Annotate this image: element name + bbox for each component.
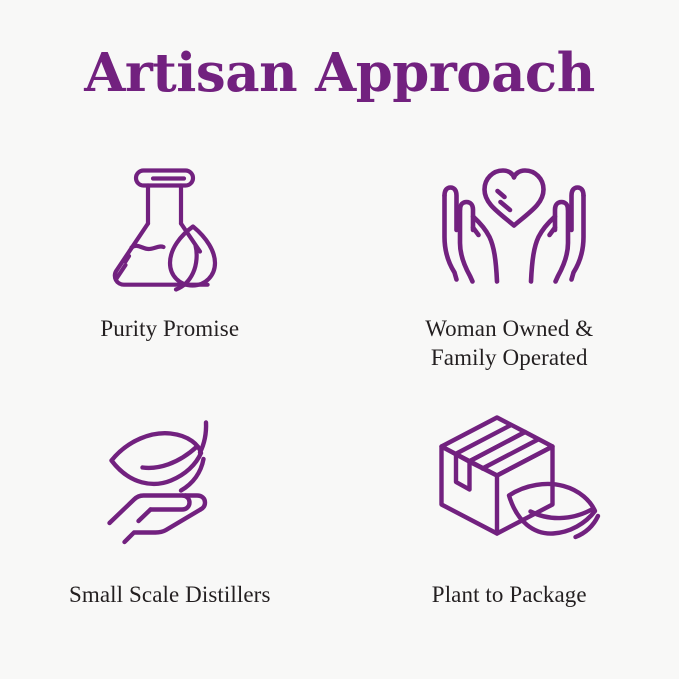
feature-item-plant-to-package: Plant to Package bbox=[340, 400, 679, 650]
flask-leaf-icon bbox=[97, 150, 243, 300]
feature-label: Plant to Package bbox=[432, 580, 587, 609]
artisan-approach-poster: Artisan Approach bbox=[0, 0, 679, 679]
feature-label: Woman Owned & Family Operated bbox=[425, 314, 593, 373]
feature-label: Purity Promise bbox=[100, 314, 239, 343]
page-title: Artisan Approach bbox=[0, 46, 679, 102]
feature-grid: Purity Promise bbox=[0, 150, 679, 650]
hands-heart-icon bbox=[424, 150, 594, 300]
feature-item-small-scale-distillers: Small Scale Distillers bbox=[0, 400, 340, 650]
feature-item-purity-promise: Purity Promise bbox=[0, 150, 340, 400]
box-leaf-icon bbox=[413, 400, 605, 550]
feature-label: Small Scale Distillers bbox=[69, 580, 271, 609]
feature-item-woman-owned: Woman Owned & Family Operated bbox=[340, 150, 679, 400]
hand-leaf-icon bbox=[105, 400, 235, 550]
